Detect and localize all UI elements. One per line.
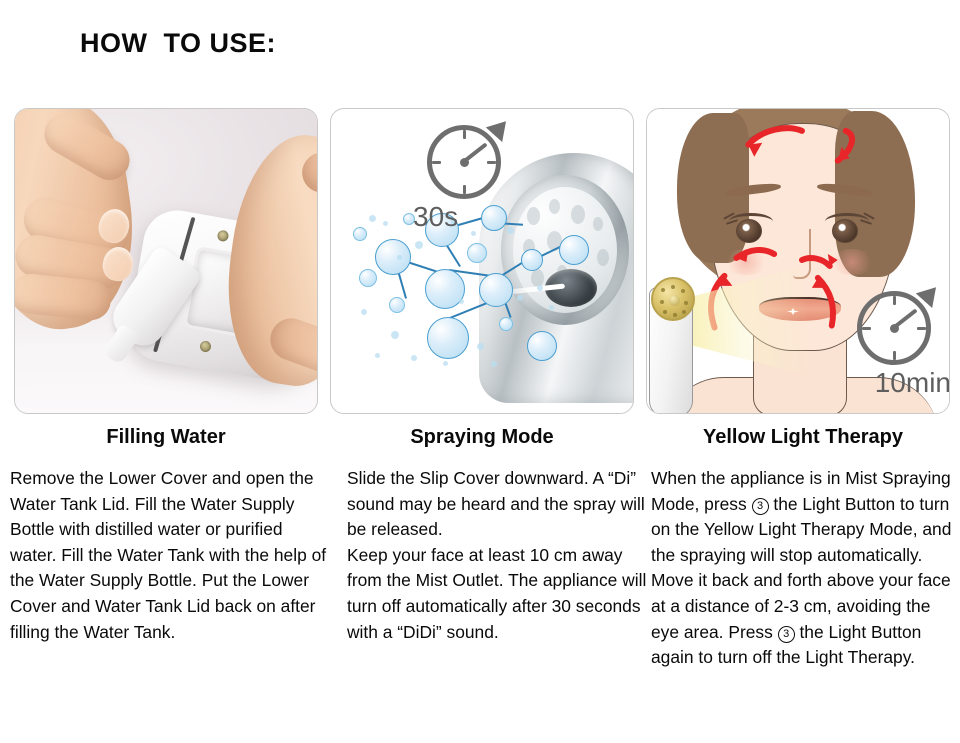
instructions-yellow-light-therapy: When the appliance is in Mist Spraying M… (651, 466, 959, 671)
illustration-panels: 30s (0, 108, 960, 418)
panel-spraying-mode: 30s (330, 108, 634, 414)
mist-nozzle-hole (545, 269, 597, 307)
caption-filling-water: Filling Water (14, 426, 318, 449)
instructions-filling-water: Remove the Lower Cover and open the Wate… (10, 466, 328, 645)
instructions-spraying-mode: Slide the Slip Cover downward. A “Di” so… (347, 466, 647, 645)
water-molecule-bubble (359, 269, 377, 287)
water-molecule-bubble (521, 249, 543, 271)
water-molecule-bubble (499, 317, 513, 331)
water-molecule-bubble (481, 205, 507, 231)
water-molecule-bubble (427, 317, 469, 359)
circled-number-3: 3 (752, 498, 769, 515)
face-illustration: 10min (647, 109, 949, 413)
caption-yellow-light-therapy: Yellow Light Therapy (646, 426, 960, 449)
water-molecule-bubble (389, 297, 405, 313)
water-molecule-bubble (527, 331, 557, 361)
timer-30s-icon (427, 125, 501, 199)
screw-icon (217, 229, 230, 242)
caption-spraying-mode: Spraying Mode (330, 426, 634, 449)
spraying-text-part-1: Slide the Slip Cover downward. A “Di” so… (347, 468, 645, 539)
water-molecule-bubble (479, 273, 513, 307)
water-molecule-bubble (353, 227, 367, 241)
light-text-part-2: the Light Button to turn on the Yellow L… (651, 494, 951, 642)
circled-number-3: 3 (778, 626, 795, 643)
timer-30s-label: 30s (413, 201, 458, 233)
panel-captions: Filling Water Spraying Mode Yellow Light… (0, 426, 960, 458)
timer-10min-label: 10min (875, 367, 949, 399)
panel-filling-water (14, 108, 318, 414)
water-molecule-bubble (467, 243, 487, 263)
finger (299, 144, 318, 196)
timer-10min-icon (857, 291, 931, 365)
finger (264, 312, 318, 381)
page-title: HOW TO USE: (80, 28, 276, 59)
spraying-text-part-2: Keep your face at least 10 cm away from … (347, 545, 646, 642)
water-molecule-bubble (375, 239, 411, 275)
screw-icon (199, 340, 212, 353)
yellow-led-head (651, 277, 695, 321)
water-molecule-bubble (559, 235, 589, 265)
panel-yellow-light-therapy: 10min (646, 108, 950, 414)
